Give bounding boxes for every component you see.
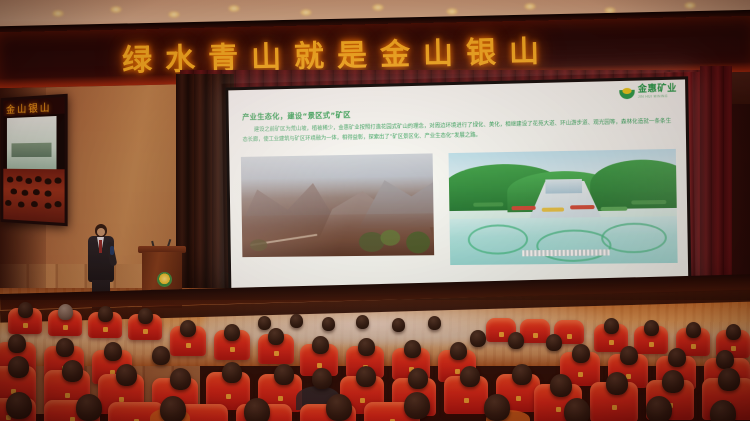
ceiling-downlight <box>110 6 122 13</box>
podium-emblem-icon <box>157 272 172 287</box>
audience-head <box>686 322 701 338</box>
audience-head <box>224 324 240 341</box>
audience-head <box>356 315 369 329</box>
audience-head <box>322 317 335 331</box>
audience-head <box>76 394 102 421</box>
audience-head <box>62 360 83 382</box>
audience-head <box>484 394 510 421</box>
slide-title: 产业生态化，建设“景区式”矿区 <box>242 109 351 122</box>
audience-head <box>470 330 486 347</box>
photo-before: 建设前 <box>241 153 434 257</box>
audience-head <box>550 374 572 397</box>
audience-head <box>358 338 375 356</box>
audience-head <box>460 366 480 387</box>
audience-head <box>392 318 405 332</box>
audience-head <box>668 348 686 367</box>
projection-screen: 金惠矿业 JIN HUI MINING 产业生态化，建设“景区式”矿区 建设之前… <box>225 76 691 291</box>
audience-head <box>646 396 672 421</box>
audience-area <box>0 300 750 421</box>
audience-head <box>450 342 467 360</box>
audience-head <box>312 336 329 354</box>
audience-head <box>58 304 73 320</box>
monitor-audience-area <box>3 169 64 223</box>
audience-head <box>8 334 26 353</box>
audience-head <box>326 394 352 421</box>
audience-head <box>138 308 153 324</box>
ceiling-downlight <box>168 11 180 18</box>
audience-head <box>8 356 29 378</box>
logo-mark-icon <box>619 86 635 99</box>
audience-head <box>718 368 740 391</box>
green-plaza-image <box>448 149 677 265</box>
audience-head <box>404 340 421 358</box>
audience-head <box>356 366 376 387</box>
audience-head <box>268 328 284 345</box>
audience-head <box>572 344 590 363</box>
microphone-icon <box>110 246 114 255</box>
audience-head <box>644 320 659 336</box>
slide-photo-group: 建设前 <box>241 149 678 281</box>
audience-head <box>104 342 122 361</box>
audience-head <box>152 346 170 365</box>
audience-head <box>428 316 441 330</box>
photo-after: 建成后 <box>448 149 677 265</box>
audience-head <box>606 372 628 395</box>
audience-head <box>512 364 532 385</box>
audience-head <box>716 350 734 369</box>
monitor-slide-area <box>7 116 57 169</box>
auditorium-photo: 绿水青山就是金山银山 金山银山 金惠矿业 JIN <box>0 0 750 421</box>
ceiling-downlight <box>372 4 384 11</box>
ceiling-downlight <box>524 3 536 10</box>
audience-head <box>726 324 741 340</box>
presentation-slide: 金惠矿业 JIN HUI MINING 产业生态化，建设“景区式”矿区 建设之前… <box>228 79 688 288</box>
audience-head <box>116 364 137 386</box>
ceiling-downlight <box>684 2 696 9</box>
audience-head <box>290 314 303 328</box>
audience-head <box>170 368 191 390</box>
audience-head <box>404 392 430 419</box>
audience-head <box>160 396 186 421</box>
audience-head <box>312 368 332 389</box>
audience-head <box>408 368 428 389</box>
audience-head <box>604 318 619 334</box>
audience-head <box>710 400 736 421</box>
audience-head <box>18 302 33 318</box>
audience-head <box>620 346 638 365</box>
logo-company-name-en: JIN HUI MINING <box>638 95 677 99</box>
audience-head <box>508 332 524 349</box>
ceiling-downlight <box>300 9 312 16</box>
audience-head <box>56 338 74 357</box>
ceiling-downlight <box>446 8 458 15</box>
audience-head <box>662 370 684 393</box>
monitor-banner-strip: 金山银山 <box>3 97 64 116</box>
ceiling-downlight <box>228 5 240 12</box>
audience-head <box>98 306 113 322</box>
audience-head <box>546 334 562 351</box>
barren-hillside-image <box>241 153 434 257</box>
logo-company-name: 金惠矿业 <box>638 85 677 95</box>
audience-head <box>564 398 590 421</box>
audience-head <box>6 392 32 419</box>
audience-head <box>222 362 242 383</box>
monitor-banner-text: 金山银山 <box>6 99 51 116</box>
audience-head <box>244 398 270 421</box>
audience-head <box>258 316 271 330</box>
audience-head <box>180 320 196 337</box>
ceiling-downlight <box>52 10 64 17</box>
company-logo: 金惠矿业 JIN HUI MINING <box>619 85 677 100</box>
live-feed-monitor: 金山银山 <box>1 94 68 227</box>
audience-head <box>274 364 294 385</box>
